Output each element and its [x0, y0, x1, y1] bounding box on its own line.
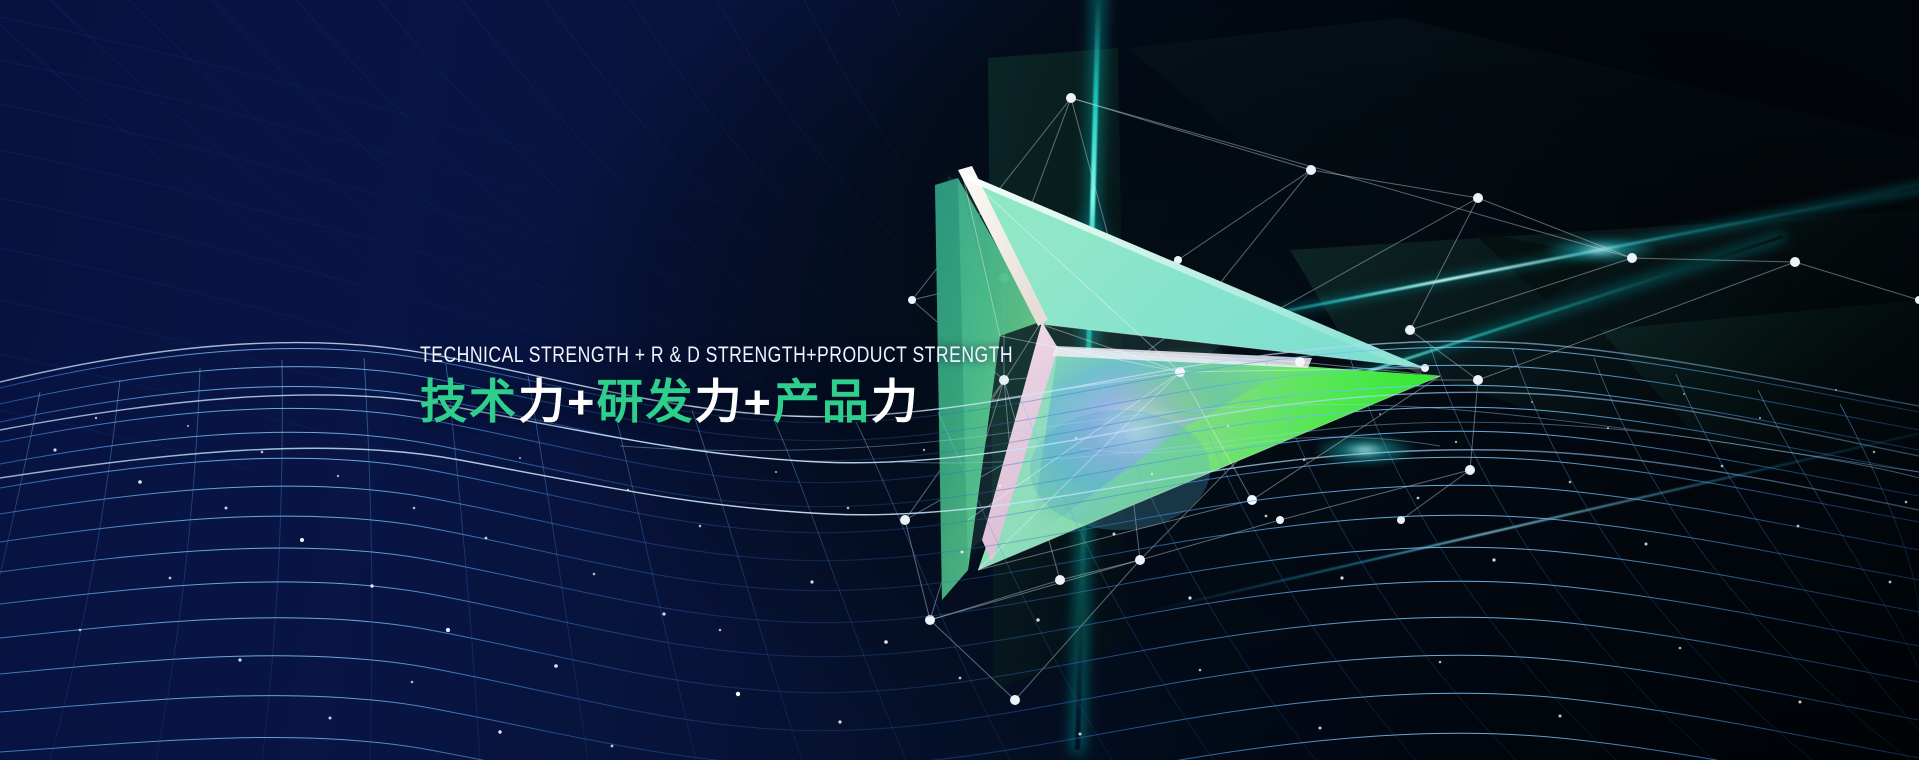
title-part-1: 力	[518, 375, 567, 428]
lower-diagonal-light-beam	[1060, 235, 1784, 473]
title-part-2: +	[567, 375, 596, 428]
vertical-light-beam	[1075, 0, 1102, 750]
page-title: 技术力+研发力+产品力	[420, 377, 980, 428]
title-part-4: 力	[694, 375, 743, 428]
title-part-7: 力	[871, 375, 920, 428]
hero-banner: TECHNICAL STRENGTH + R & D STRENGTH+PROD…	[0, 0, 1919, 760]
bottom-diagonal-light-beam	[1150, 408, 1919, 612]
upper-diagonal-light-beam	[1180, 174, 1919, 333]
lower-diagonal-beam-flare	[1290, 410, 1440, 490]
eyebrow-text: TECHNICAL STRENGTH + R & D STRENGTH+PROD…	[420, 344, 868, 366]
title-part-3: 研发	[596, 375, 694, 428]
headline-block: TECHNICAL STRENGTH + R & D STRENGTH+PROD…	[420, 344, 980, 428]
upper-diagonal-beam-flare	[1520, 215, 1680, 285]
title-part-0: 技术	[420, 375, 518, 428]
title-part-6: 产品	[773, 375, 871, 428]
title-part-5: +	[743, 375, 772, 428]
vertical-beam-flare	[1045, 180, 1135, 370]
